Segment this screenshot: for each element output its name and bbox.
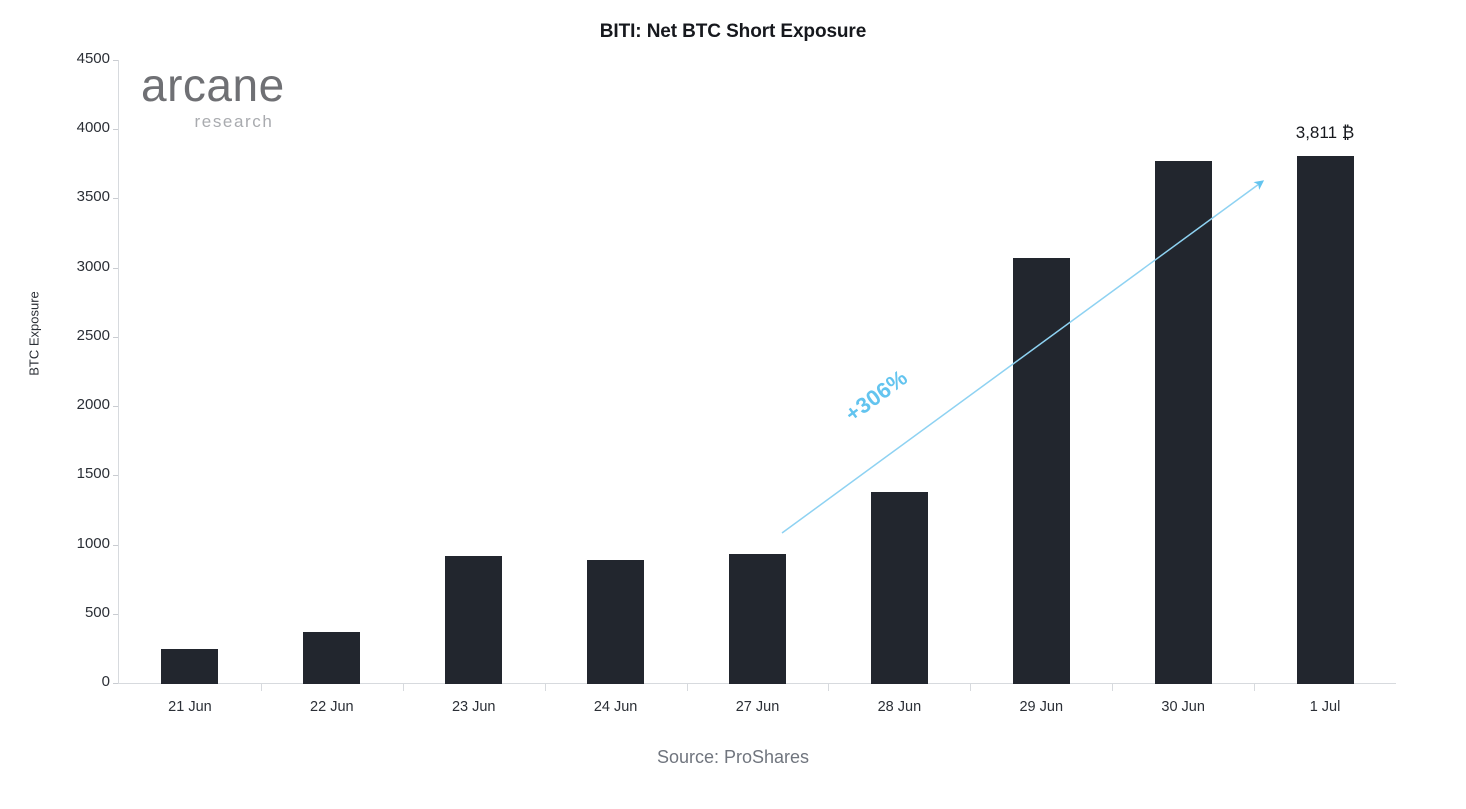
- x-tick-label: 23 Jun: [404, 699, 544, 715]
- x-tick-label: 24 Jun: [546, 699, 686, 715]
- y-tick-label: 3500: [48, 188, 110, 205]
- chart-container: BITI: Net BTC Short Exposure arcane rese…: [0, 0, 1466, 809]
- x-tick-mark: [1254, 684, 1255, 691]
- y-tick-label: 4500: [48, 50, 110, 67]
- source-note: Source: ProShares: [0, 747, 1466, 768]
- y-tick-label: 500: [48, 604, 110, 621]
- x-tick-mark: [261, 684, 262, 691]
- bar[interactable]: [445, 556, 502, 684]
- bar[interactable]: [587, 560, 644, 684]
- x-tick-mark: [1112, 684, 1113, 691]
- bar[interactable]: [1297, 156, 1354, 684]
- x-tick-mark: [403, 684, 404, 691]
- y-tick-label: 1500: [48, 465, 110, 482]
- x-tick-label: 27 Jun: [688, 699, 828, 715]
- plot-area: [119, 60, 1396, 684]
- y-tick-label: 1000: [48, 535, 110, 552]
- x-tick-label: 29 Jun: [971, 699, 1111, 715]
- x-tick-label: 21 Jun: [120, 699, 260, 715]
- bar[interactable]: [871, 492, 928, 684]
- chart-title: BITI: Net BTC Short Exposure: [0, 21, 1466, 43]
- bar[interactable]: [1013, 258, 1070, 684]
- y-tick-label: 3000: [48, 258, 110, 275]
- x-tick-mark: [828, 684, 829, 691]
- bar[interactable]: [161, 649, 218, 684]
- x-tick-label: 1 Jul: [1255, 699, 1395, 715]
- x-tick-mark: [545, 684, 546, 691]
- x-tick-mark: [970, 684, 971, 691]
- bar[interactable]: [729, 554, 786, 684]
- y-axis-title: BTC Exposure: [27, 254, 42, 414]
- x-tick-mark: [687, 684, 688, 691]
- data-label-last-bar: 3,811 ₿: [1245, 123, 1405, 143]
- bar[interactable]: [303, 632, 360, 684]
- x-tick-label: 30 Jun: [1113, 699, 1253, 715]
- y-tick-label: 2000: [48, 396, 110, 413]
- x-tick-label: 22 Jun: [262, 699, 402, 715]
- y-tick-label: 0: [48, 673, 110, 690]
- bar[interactable]: [1155, 161, 1212, 684]
- y-tick-label: 4000: [48, 119, 110, 136]
- y-tick-label: 2500: [48, 327, 110, 344]
- x-tick-label: 28 Jun: [829, 699, 969, 715]
